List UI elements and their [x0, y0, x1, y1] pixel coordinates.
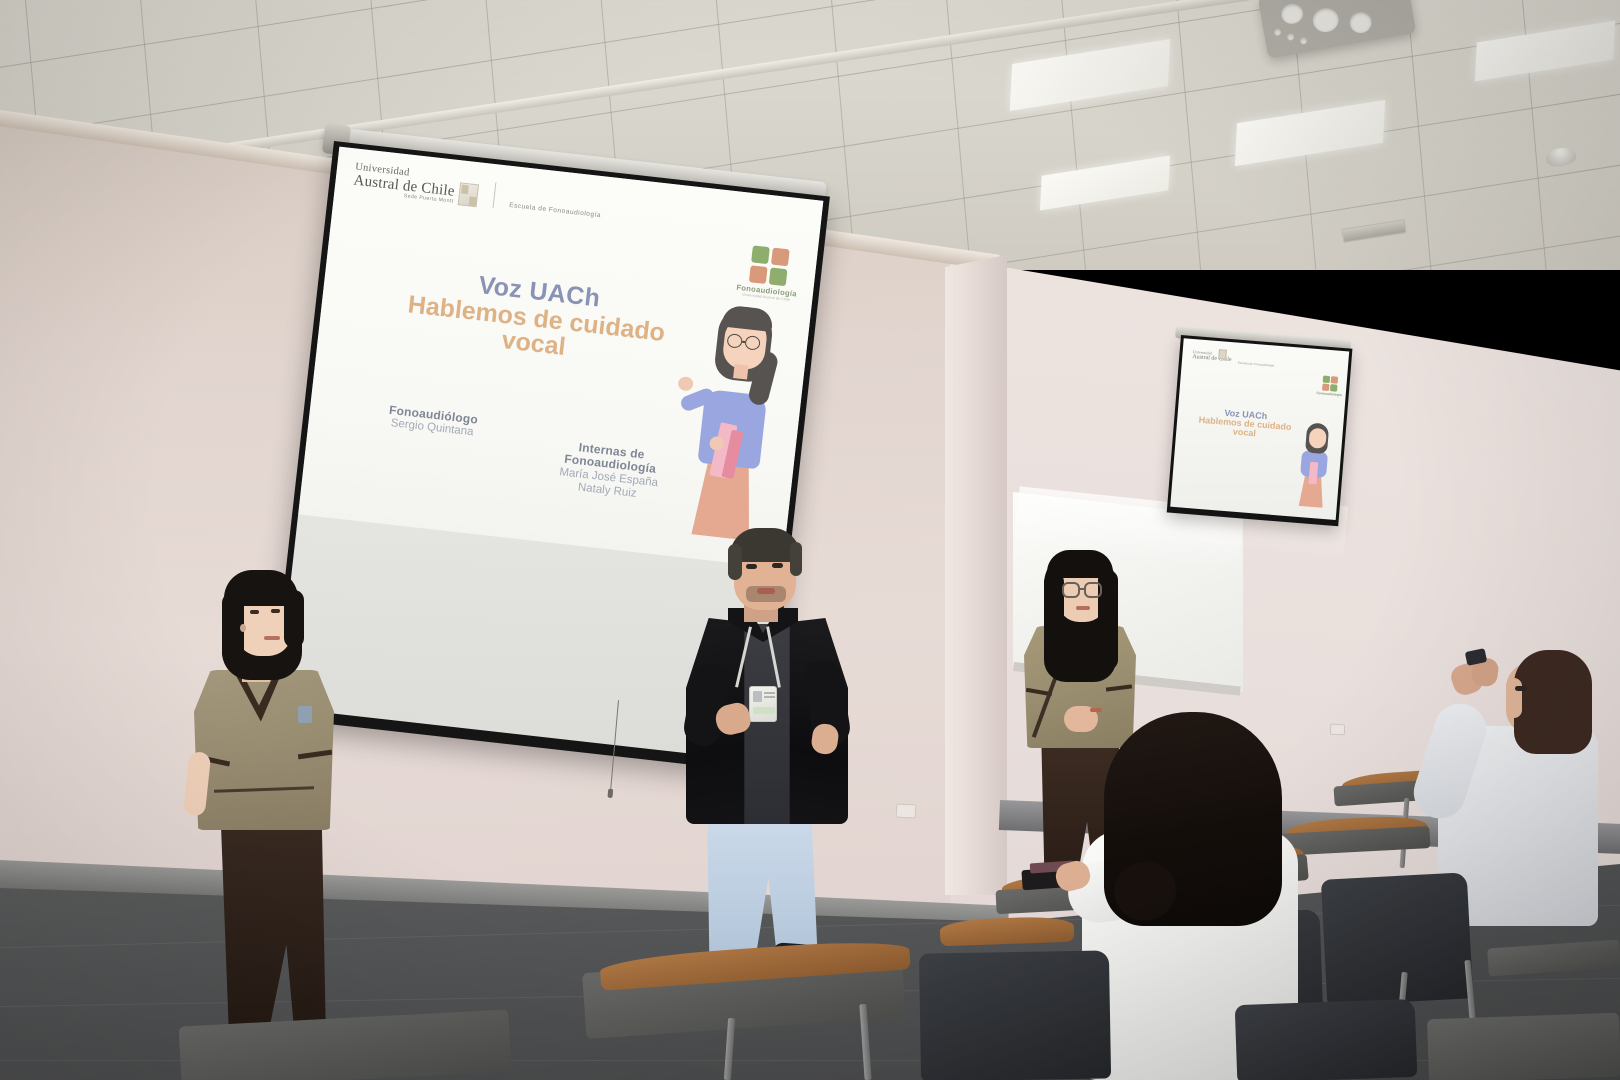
secondary-program-logo-icon: [1322, 376, 1338, 392]
mouth: [757, 588, 775, 594]
wall-outlet-icon: [1330, 724, 1345, 736]
structural-column: [945, 255, 1007, 895]
id-badge: [749, 686, 777, 722]
secondary-projector-screen: Universidad Austral de Chile Escuela de …: [1167, 335, 1353, 526]
illustration-neck: [733, 364, 748, 379]
header-divider: [492, 182, 496, 208]
secondary-illustration: [1289, 417, 1338, 508]
glasses-icon: [1062, 582, 1080, 598]
mouth: [1076, 606, 1090, 610]
chair-back: [1321, 872, 1473, 1005]
glasses-bridge: [1080, 588, 1084, 590]
hair-side: [728, 544, 742, 580]
chair-back: [919, 950, 1111, 1080]
person-intern-left: [180, 562, 355, 1048]
earring: [240, 624, 246, 632]
trousers: [216, 810, 326, 1042]
secondary-school-name: Escuela de Fonoaudiología: [1238, 361, 1275, 368]
eye: [772, 563, 783, 568]
wall-outlet-icon: [896, 803, 917, 818]
scrub-top: [194, 670, 334, 830]
uniform-badge: [298, 706, 312, 723]
program-logo-squares-icon: [749, 245, 790, 286]
jeans: [700, 802, 818, 966]
glasses-icon: [1084, 582, 1102, 598]
mouth: [264, 636, 280, 640]
presentation-slide: Universidad Austral de Chile Sede Puerto…: [298, 147, 823, 569]
person-presenter: [672, 528, 862, 976]
hair-side: [1044, 572, 1064, 638]
secondary-program-logo-name: Fonoaudiología: [1316, 391, 1341, 397]
hair: [1514, 650, 1592, 754]
school-name: Escuela de Fonoaudiología: [509, 202, 602, 219]
university-shield-icon: [457, 182, 478, 207]
eye: [746, 564, 757, 569]
university-logo: Universidad Austral de Chile Sede Puerto…: [352, 163, 479, 207]
hair-side: [284, 590, 304, 648]
eye: [250, 610, 259, 614]
secondary-slide-title: Voz UACh Hablemos de cuidado vocal: [1188, 405, 1302, 443]
hair-side: [790, 542, 802, 576]
chair-back: [1235, 999, 1418, 1080]
secondary-shield-icon: [1218, 349, 1227, 360]
slide-title: Voz UACh Hablemos de cuidado vocal: [368, 260, 705, 375]
illustration-glasses-bridge: [742, 341, 745, 343]
desk-surface: [1427, 1013, 1620, 1080]
face-profile: [1506, 678, 1522, 718]
eye: [1515, 686, 1527, 691]
illustration-hand: [677, 376, 693, 392]
credit-block: Fonoaudiólogo Sergio Quintana: [347, 400, 513, 487]
slide-credits: Fonoaudiólogo Sergio Quintana Internas d…: [347, 400, 693, 507]
classroom-photo: Universidad Austral de Chile Sede Puerto…: [0, 0, 1620, 1080]
eye: [271, 609, 280, 613]
